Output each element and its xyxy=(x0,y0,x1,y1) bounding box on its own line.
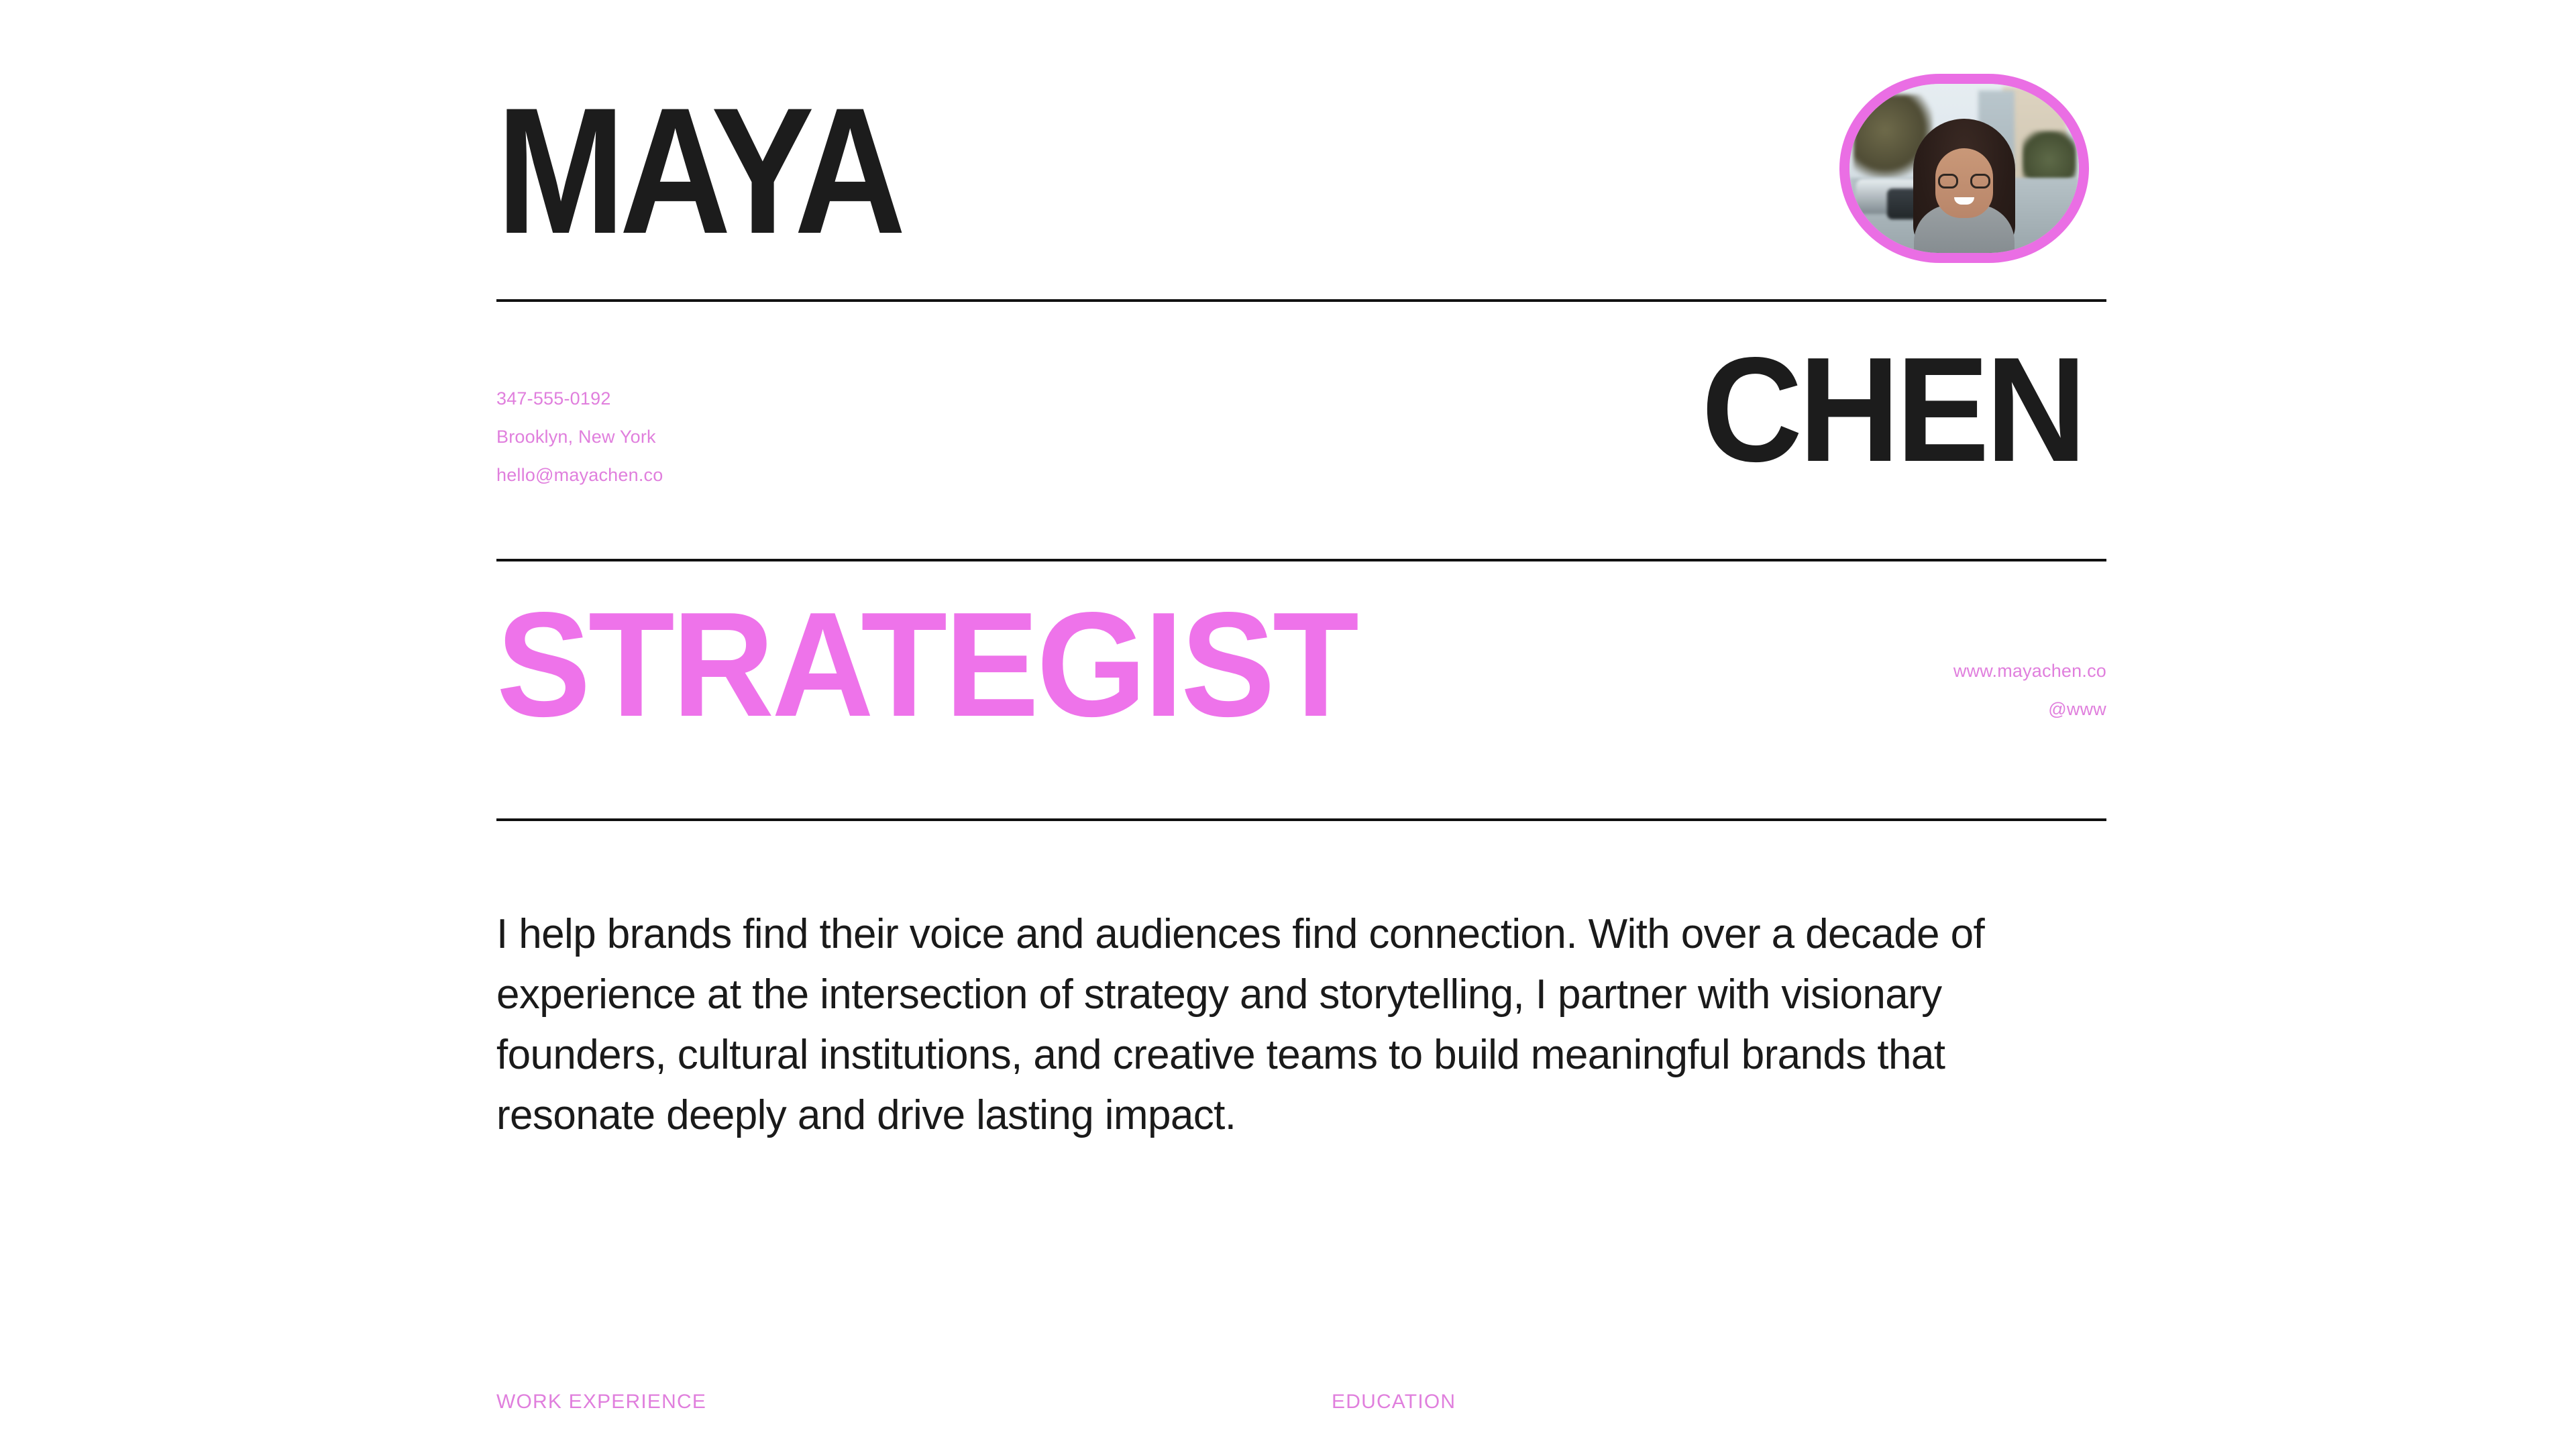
avatar-photo xyxy=(1849,84,2079,253)
bio-paragraph: I help brands find their voice and audie… xyxy=(496,904,2106,1146)
links-list: www.mayachen.co @www xyxy=(1953,652,2106,729)
contact-row: 347-555-0192 Brooklyn, New York hello@ma… xyxy=(496,335,2106,550)
contact-email[interactable]: hello@mayachen.co xyxy=(496,456,663,494)
divider-rule-middle xyxy=(496,559,2106,561)
contact-list: 347-555-0192 Brooklyn, New York hello@ma… xyxy=(496,380,663,494)
contact-location: Brooklyn, New York xyxy=(496,418,663,456)
job-title: STRATEGIST xyxy=(496,590,1356,739)
avatar xyxy=(1839,74,2089,263)
title-row: STRATEGIST www.mayachen.co @www xyxy=(496,590,2106,798)
section-heading-education: EDUCATION xyxy=(1332,1390,1456,1414)
link-website[interactable]: www.mayachen.co xyxy=(1953,652,2106,690)
section-heading-work-experience: WORK EXPERIENCE xyxy=(496,1390,706,1414)
divider-rule-top xyxy=(496,299,2106,302)
section-label-row: WORK EXPERIENCE EDUCATION xyxy=(496,1390,2106,1449)
link-social-handle[interactable]: @www xyxy=(1953,690,2106,729)
resume-page: MAYA 347-555-0192 Brooklyn, xyxy=(0,0,2576,1449)
divider-rule-bottom xyxy=(496,818,2106,821)
page-title-last-name: CHEN xyxy=(1701,335,2083,484)
header-name-row: MAYA xyxy=(496,80,2106,275)
contact-phone[interactable]: 347-555-0192 xyxy=(496,380,663,418)
glasses-icon xyxy=(1938,174,1990,189)
page-title-first-name: MAYA xyxy=(496,80,900,260)
